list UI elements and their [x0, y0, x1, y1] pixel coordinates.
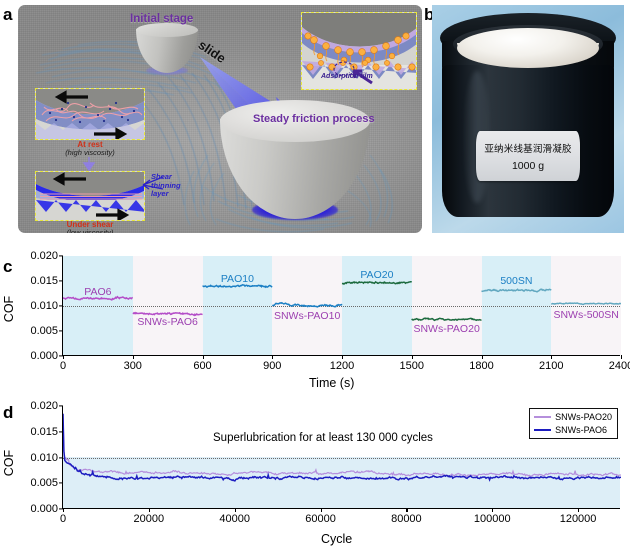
- label-initial-stage: Initial stage: [130, 13, 193, 25]
- label-steady-friction-process: Steady friction process: [253, 113, 375, 125]
- legend-label: SNWs-PAO20: [555, 412, 612, 422]
- series-line-500sn: [482, 289, 552, 292]
- panel-c-plot-area: 0.0000.0050.0100.0150.020 03006009001200…: [62, 256, 620, 356]
- inset-under-shear: [35, 171, 145, 221]
- y-tick-label: 0.000: [30, 350, 58, 362]
- caption-under-shear-subtitle: (low viscosity): [35, 229, 145, 233]
- x-tick-label: 2400: [609, 360, 630, 372]
- lubricant-jar: 亚纳米线基润滑凝胶 1000 g: [440, 13, 616, 225]
- x-tick-label: 1800: [469, 360, 493, 372]
- bowl-initial: [136, 23, 198, 75]
- inset-under-shear-graphic: [36, 172, 145, 221]
- series-line-snws-500sn: [551, 303, 621, 304]
- y-tick-label: 0.000: [30, 503, 58, 515]
- series-label-snws-pao6: SNWs-PAO6: [137, 316, 197, 328]
- x-tick-label: 1500: [400, 360, 424, 372]
- series-line-snws-pao6: [133, 313, 203, 316]
- x-tick-label: 100000: [474, 513, 511, 525]
- caption-at-rest: At rest (high viscosity): [35, 141, 145, 157]
- x-tick-label: 2100: [539, 360, 563, 372]
- inset-at-rest: [35, 88, 145, 140]
- panel-c-chart: COF Time (s) 0.0000.0050.0100.0150.020 0…: [0, 250, 630, 395]
- y-tick-label: 0.020: [30, 250, 58, 262]
- x-tick-label: 60000: [305, 513, 336, 525]
- series-label-snws-pao20: SNWs-PAO20: [413, 323, 479, 335]
- y-tick-label: 0.010: [30, 452, 58, 464]
- label-adsorption-film: Adsorption film: [321, 73, 373, 80]
- panel-d-chart: COF Cycle 0.0000.0050.0100.0150.020 0200…: [0, 398, 630, 552]
- bowl-initial-top: [136, 23, 198, 37]
- panel-a-schematic: Initial stage Steady friction process sl…: [18, 5, 422, 233]
- panel-letter-a: a: [3, 6, 12, 23]
- series-line-snws-pao10: [272, 303, 342, 307]
- legend-swatch-icon: [534, 429, 551, 432]
- label-shear-thinning-layer: Shear thinning layer: [151, 173, 197, 199]
- panel-d-annotation: Superlubrication for at least 130 000 cy…: [213, 432, 433, 444]
- series-label-pao6: PAO6: [84, 286, 111, 298]
- y-tick-label: 0.005: [30, 477, 58, 489]
- panel-c-series-lines: [63, 256, 621, 356]
- series-line-snws-pao20: [412, 318, 482, 320]
- x-tick-label: 600: [193, 360, 211, 372]
- x-tick-label: 120000: [560, 513, 597, 525]
- x-tick-label: 0: [60, 360, 66, 372]
- panel-b-photo: 亚纳米线基润滑凝胶 1000 g: [432, 5, 624, 233]
- series-label-pao20: PAO20: [360, 269, 393, 281]
- y-tick-label: 0.005: [30, 325, 58, 337]
- panel-d-x-axis-title: Cycle: [321, 532, 352, 546]
- caption-under-shear: Under shear (low viscosity): [35, 221, 145, 233]
- x-tick-mark: [621, 355, 622, 359]
- series-label-snws-pao10: SNWs-PAO10: [274, 310, 340, 322]
- series-label-500sn: 500SN: [500, 275, 532, 287]
- legend-swatch-icon: [534, 416, 551, 419]
- jar-product-label: 亚纳米线基润滑凝胶 1000 g: [476, 131, 580, 181]
- panel-d-plot-area: 0.0000.0050.0100.0150.020 02000040000600…: [62, 406, 620, 509]
- x-tick-label: 20000: [134, 513, 165, 525]
- panel-d-y-axis-title: COF: [2, 450, 16, 476]
- legend-label: SNWs-PAO6: [555, 425, 607, 435]
- jar-paste-surface: [457, 28, 599, 68]
- panel-c-y-axis-title: COF: [2, 296, 16, 322]
- x-tick-label: 900: [263, 360, 281, 372]
- y-tick-label: 0.010: [30, 300, 58, 312]
- panel-c-x-axis-title: Time (s): [309, 376, 354, 390]
- jar-label-product-name: 亚纳米线基润滑凝胶: [484, 141, 571, 155]
- transition-down-arrow-icon: [81, 157, 97, 171]
- x-tick-label: 80000: [391, 513, 422, 525]
- x-tick-label: 300: [124, 360, 142, 372]
- inset-at-rest-graphic: [36, 89, 145, 140]
- legend-item-snws-pao20[interactable]: SNWs-PAO20: [534, 412, 612, 422]
- series-line-pao10: [203, 285, 273, 287]
- x-tick-label: 1200: [330, 360, 354, 372]
- x-tick-label: 0: [60, 513, 66, 525]
- legend-item-snws-pao6[interactable]: SNWs-PAO6: [534, 425, 612, 435]
- jar-label-weight: 1000 g: [512, 160, 544, 172]
- y-tick-label: 0.015: [30, 275, 58, 287]
- x-tick-label: 40000: [219, 513, 250, 525]
- series-label-snws-500sn: SNWs-500SN: [553, 309, 618, 321]
- y-tick-label: 0.020: [30, 400, 58, 412]
- series-line-pao20: [342, 282, 412, 284]
- figure-root: a: [0, 0, 630, 552]
- series-label-pao10: PAO10: [221, 273, 254, 285]
- y-tick-label: 0.015: [30, 426, 58, 438]
- panel-d-legend: SNWs-PAO20SNWs-PAO6: [529, 408, 618, 439]
